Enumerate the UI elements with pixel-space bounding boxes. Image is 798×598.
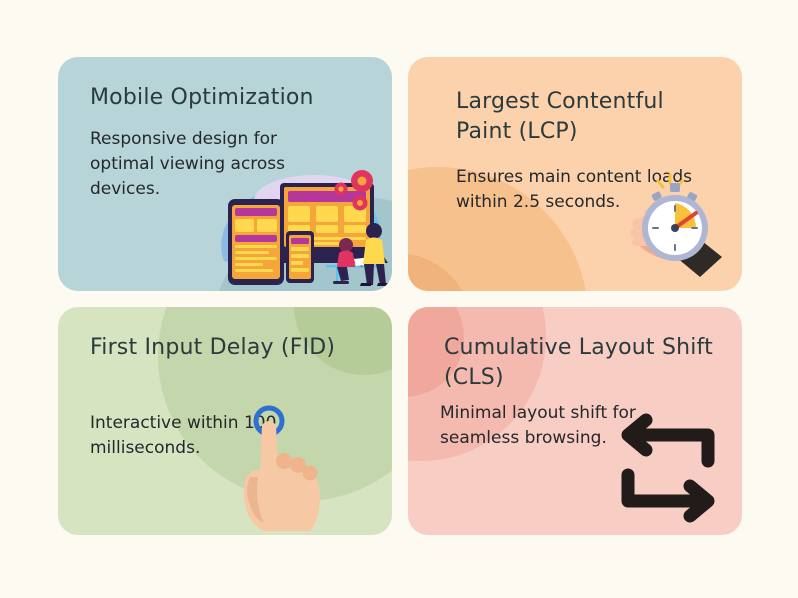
card-title: Mobile Optimization: [86, 83, 368, 113]
card-title: First Input Delay (FID): [86, 333, 368, 363]
decorative-circle: [408, 253, 472, 291]
card-title: Largest Contentful Paint (LCP): [456, 87, 716, 147]
responsive-devices-illustration: [206, 165, 392, 287]
card-mobile-optimization[interactable]: Mobile Optimization Responsive design fo…: [58, 57, 392, 291]
pointing-hand-tap-illustration: [234, 405, 338, 535]
card-title: Cumulative Layout Shift (CLS): [444, 333, 714, 393]
card-largest-contentful-paint[interactable]: Largest Contentful Paint (LCP) Ensures m…: [408, 57, 742, 291]
swap-arrows-icon: [612, 413, 724, 523]
card-grid: Mobile Optimization Responsive design fo…: [58, 57, 742, 535]
card-first-input-delay[interactable]: First Input Delay (FID) Interactive with…: [58, 307, 392, 535]
hand-stopwatch-illustration: [614, 171, 734, 281]
infographic-canvas: Mobile Optimization Responsive design fo…: [0, 0, 798, 598]
card-cumulative-layout-shift[interactable]: Cumulative Layout Shift (CLS) Minimal la…: [408, 307, 742, 535]
